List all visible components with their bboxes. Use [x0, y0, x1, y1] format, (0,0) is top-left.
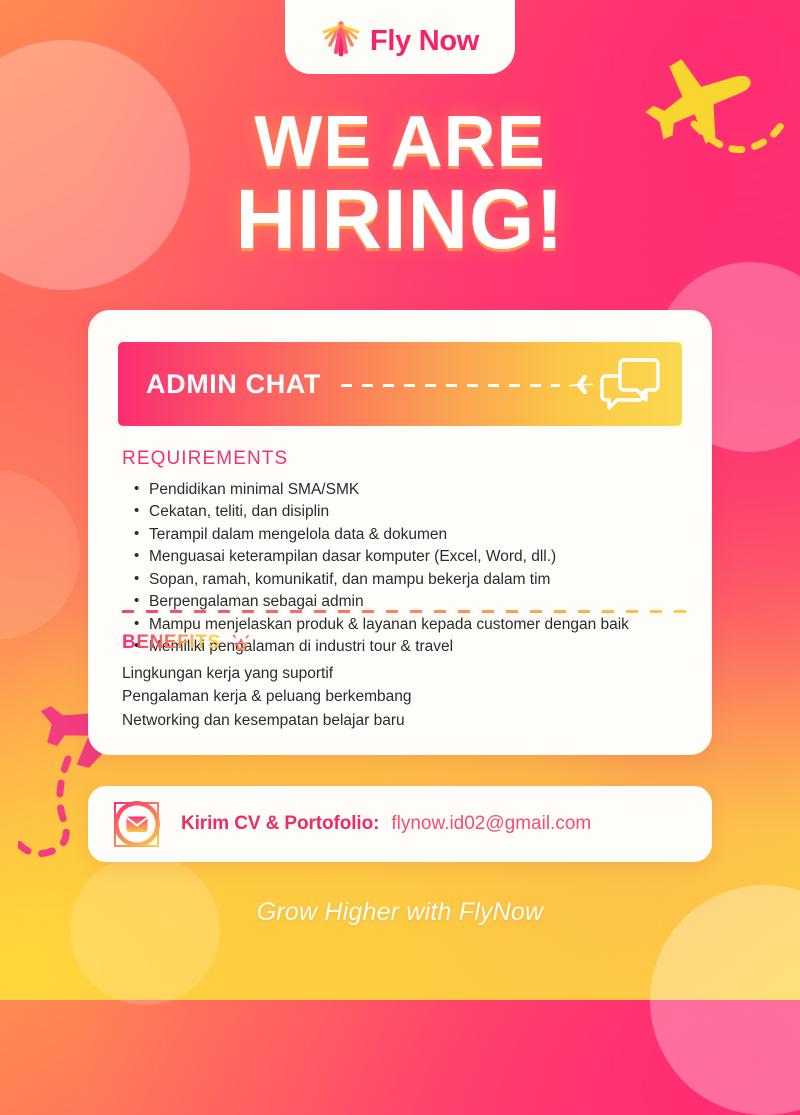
page-title: WE ARE HIRING! [0, 108, 800, 260]
poster-canvas: Fly Now WE ARE HIRING! ADMIN CHAT REQUIR… [0, 0, 800, 1000]
footer-tagline: Grow Higher with FlyNow [0, 898, 800, 927]
contact-label: Kirim CV & Portofolio: [181, 813, 379, 835]
list-item: Pengalaman kerja & peluang berkembang [122, 685, 690, 708]
requirements-heading: REQUIREMENTS [122, 448, 690, 470]
banner-dashed-trail [341, 373, 594, 395]
list-item: Sopan, ramah, komunikatif, dan mampu bek… [132, 569, 690, 591]
benefits-heading: BENEFITS [122, 632, 221, 654]
benefits-section: BENEFITS Lingkungan kerja [122, 632, 690, 732]
wing-fan-icon [321, 18, 361, 58]
airplane-icon [568, 374, 594, 394]
list-item: Terampil dalam mengelola data & dokumen [132, 524, 690, 546]
list-item: Lingkungan kerja yang suportif [122, 662, 690, 685]
list-item: Menguasai keterampilan dasar komputer (E… [132, 546, 690, 568]
chat-bubbles-icon [600, 356, 660, 412]
list-item: Pendidikan minimal SMA/SMK [132, 479, 690, 501]
background-blob [0, 470, 80, 640]
list-item: Cekatan, teliti, dan disiplin [132, 501, 690, 523]
contact-email[interactable]: flynow.id02@gmail.com [391, 813, 591, 835]
contact-bar: Kirim CV & Portofolio: flynow.id02@gmail… [88, 786, 712, 862]
background-blob [70, 855, 220, 1005]
role-title: ADMIN CHAT [146, 369, 321, 400]
benefits-list: Lingkungan kerja yang suportif Pengalama… [122, 662, 690, 732]
headline-line-1: WE ARE [0, 108, 800, 176]
brand-name: Fly Now [370, 25, 479, 58]
brand-logo-pill: Fly Now [285, 0, 515, 74]
job-details-card: ADMIN CHAT REQUIREMENTS Pendidikan minim… [88, 310, 712, 755]
headline-line-2: HIRING! [0, 180, 800, 260]
requirements-section: REQUIREMENTS Pendidikan minimal SMA/SMK … [122, 448, 690, 659]
envelope-icon [125, 812, 149, 836]
list-item: Networking dan kesempatan belajar baru [122, 709, 690, 732]
section-divider [122, 610, 688, 613]
envelope-icon-ring [114, 802, 159, 847]
sparkle-star-icon [230, 632, 252, 654]
role-banner: ADMIN CHAT [118, 342, 682, 426]
